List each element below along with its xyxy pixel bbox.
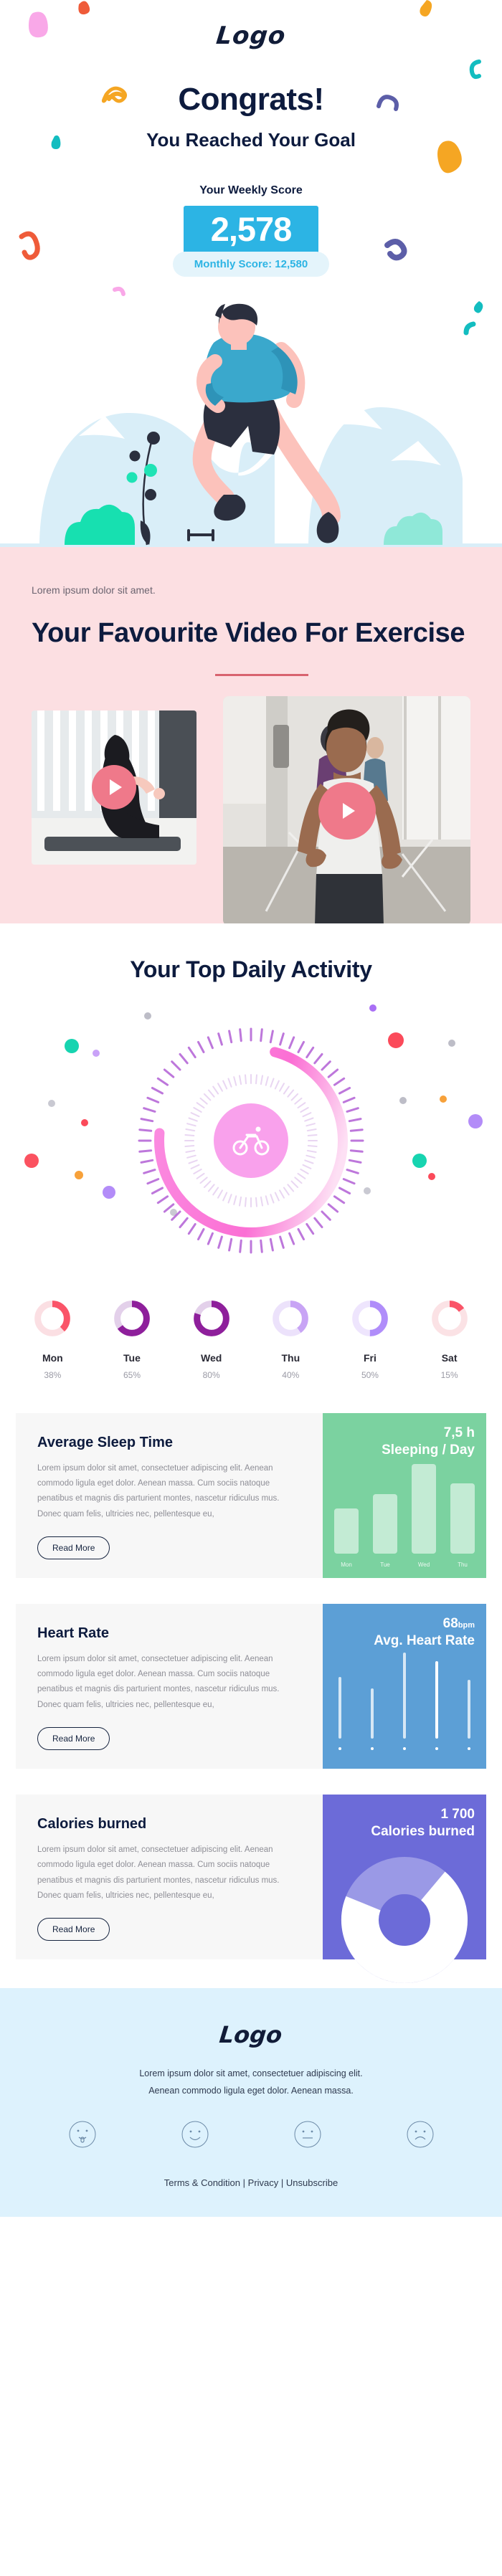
heart-stat-label: Avg. Heart Rate <box>334 1633 475 1649</box>
day-percent: 15% <box>415 1370 484 1380</box>
heart-rate-bar-chart: 68bpm Avg. Heart Rate <box>323 1604 486 1769</box>
footer-logo: Logo <box>218 2021 283 2048</box>
calories-donut-svg <box>340 1855 469 1985</box>
calories-stat-number: 1 700 <box>334 1807 475 1822</box>
sleep-bar-wed <box>412 1464 436 1554</box>
congrats-heading: Congrats! <box>0 82 502 118</box>
legal-separator-1: | <box>243 2177 245 2188</box>
video-divider <box>215 674 308 676</box>
card-text-panel: Average Sleep Time Lorem ipsum dolor sit… <box>16 1413 323 1578</box>
day-ring-item[interactable]: Tue 65% <box>98 1298 166 1380</box>
day-ring-item[interactable]: Fri 50% <box>336 1298 404 1380</box>
calories-stat-label: Calories burned <box>334 1824 475 1840</box>
day-percent: 80% <box>177 1370 246 1380</box>
day-ring-mon <box>32 1298 72 1339</box>
heart-bar-2 <box>371 1688 374 1739</box>
video-thumbnail-group <box>32 696 470 879</box>
hero-section: Logo Congrats! You Reached Your Goal You… <box>0 0 502 547</box>
goal-subheading: You Reached Your Goal <box>0 129 502 151</box>
day-ring-fri <box>350 1298 390 1339</box>
card-title: Calories burned <box>37 1816 301 1833</box>
heart-dot-5 <box>468 1747 470 1750</box>
footer-line-1: Lorem ipsum dolor sit amet, consectetuer… <box>0 2068 502 2078</box>
footer-line-2: Aenean commodo ligula eget dolor. Aenean… <box>0 2086 502 2096</box>
day-ring-item[interactable]: Wed 80% <box>177 1298 246 1380</box>
running-man-illustration <box>0 293 502 547</box>
neutral-face-icon[interactable] <box>293 2120 322 2149</box>
heart-dot-2 <box>371 1747 374 1750</box>
read-more-button-sleep[interactable]: Read More <box>37 1536 110 1559</box>
day-ring-sat <box>430 1298 470 1339</box>
heart-axis-dots <box>338 1747 470 1750</box>
day-ring-wed <box>191 1298 232 1339</box>
smile-face-icon[interactable] <box>181 2120 209 2149</box>
sleep-bars <box>334 1464 475 1554</box>
card-calories-burned: Calories burned Lorem ipsum dolor sit am… <box>16 1795 486 1959</box>
runner-svg <box>0 293 502 547</box>
card-body: Lorem ipsum dolor sit amet, consectetuer… <box>37 1652 301 1713</box>
video-section-title: Your Favourite Video For Exercise <box>32 617 470 650</box>
read-more-button-calories[interactable]: Read More <box>37 1918 110 1941</box>
weekly-day-rings: Mon 38% Tue 65% Wed 80% Thu 4 <box>0 1291 502 1380</box>
day-ring-item[interactable]: Mon 38% <box>18 1298 87 1380</box>
privacy-link[interactable]: Privacy <box>248 2177 279 2188</box>
sad-face-icon[interactable] <box>406 2120 435 2149</box>
activity-title: Your Top Daily Activity <box>0 956 502 983</box>
sleep-stat-number: 7,5 h <box>334 1426 475 1441</box>
day-label: Fri <box>336 1352 404 1364</box>
day-ring-item[interactable]: Thu 40% <box>256 1298 325 1380</box>
sleep-label-tue: Tue <box>373 1562 397 1568</box>
heart-bar-1 <box>338 1677 341 1739</box>
card-title: Heart Rate <box>37 1625 301 1642</box>
card-text-panel: Heart Rate Lorem ipsum dolor sit amet, c… <box>16 1604 323 1769</box>
card-average-sleep-time: Average Sleep Time Lorem ipsum dolor sit… <box>16 1413 486 1578</box>
day-label: Mon <box>18 1352 87 1364</box>
favourite-video-section: Lorem ipsum dolor sit amet. Your Favouri… <box>0 547 502 923</box>
feedback-face-group <box>0 2120 502 2149</box>
header-logo: Logo <box>0 22 502 50</box>
day-label: Thu <box>256 1352 325 1364</box>
daily-activity-progress-ring <box>0 990 502 1291</box>
card-title: Average Sleep Time <box>37 1435 301 1451</box>
confetti-svg <box>0 0 502 337</box>
sleep-bar-tue <box>373 1494 397 1554</box>
play-button-yoga[interactable] <box>92 765 136 809</box>
read-more-button-heart[interactable]: Read More <box>37 1727 110 1750</box>
day-percent: 38% <box>18 1370 87 1380</box>
day-percent: 40% <box>256 1370 325 1380</box>
day-label: Wed <box>177 1352 246 1364</box>
card-body: Lorem ipsum dolor sit amet, consectetuer… <box>37 1461 301 1522</box>
day-ring-item[interactable]: Sat 15% <box>415 1298 484 1380</box>
tongue-face-icon[interactable] <box>68 2120 97 2149</box>
activity-center-circle <box>214 1103 288 1178</box>
day-percent: 50% <box>336 1370 404 1380</box>
heart-bar-3 <box>403 1653 406 1739</box>
weekly-score-label: Your Weekly Score <box>0 184 502 197</box>
activity-ring-svg <box>0 990 502 1291</box>
sleep-label-mon: Mon <box>334 1562 359 1568</box>
sleep-bar-chart: 7,5 h Sleeping / Day Mon Tue Wed Thu <box>323 1413 486 1578</box>
heart-bars <box>338 1653 470 1739</box>
day-label: Sat <box>415 1352 484 1364</box>
footer-section: Logo Lorem ipsum dolor sit amet, consect… <box>0 1988 502 2217</box>
terms-link[interactable]: Terms & Condition <box>164 2177 240 2188</box>
calories-donut-wrap <box>340 1855 469 1988</box>
legal-separator-2: | <box>281 2177 283 2188</box>
video-kicker: Lorem ipsum dolor sit amet. <box>32 584 470 596</box>
heart-bpm-unit: bpm <box>458 1621 475 1630</box>
day-ring-thu <box>270 1298 311 1339</box>
day-percent: 65% <box>98 1370 166 1380</box>
sleep-bar-thu <box>450 1483 475 1554</box>
sleep-stat-label: Sleeping / Day <box>334 1443 475 1458</box>
heart-bar-4 <box>435 1661 438 1739</box>
sleep-bar-mon <box>334 1508 359 1554</box>
weekly-score-value: 2,578 <box>184 206 319 256</box>
card-heart-rate: Heart Rate Lorem ipsum dolor sit amet, c… <box>16 1604 486 1769</box>
play-triangle-icon <box>343 803 355 819</box>
day-label: Tue <box>98 1352 166 1364</box>
play-triangle-icon <box>110 779 122 795</box>
sleep-label-wed: Wed <box>412 1562 436 1568</box>
heart-dot-4 <box>435 1747 438 1750</box>
heart-bpm-value: 68 <box>443 1616 458 1631</box>
card-body: Lorem ipsum dolor sit amet, consectetuer… <box>37 1843 301 1904</box>
calories-donut-chart: 1 700 Calories burned <box>323 1795 486 1959</box>
sleep-label-thu: Thu <box>450 1562 475 1568</box>
video-thumbnail-yoga[interactable] <box>32 710 196 865</box>
weekly-score-block: Your Weekly Score 2,578 Monthly Score: 1… <box>0 184 502 277</box>
daily-activity-section: Your Top Daily Activity <box>0 923 502 1387</box>
sleep-bar-labels: Mon Tue Wed Thu <box>334 1562 475 1568</box>
footer-legal-links: Terms & Condition | Privacy | Unsubscrib… <box>0 2177 502 2188</box>
heart-stat-number: 68bpm <box>334 1617 475 1632</box>
play-button-gym[interactable] <box>318 782 376 840</box>
day-ring-tue <box>112 1298 152 1339</box>
card-text-panel: Calories burned Lorem ipsum dolor sit am… <box>16 1795 323 1959</box>
heart-dot-1 <box>338 1747 341 1750</box>
unsubscribe-link[interactable]: Unsubscribe <box>286 2177 338 2188</box>
heart-bar-5 <box>468 1680 470 1739</box>
heart-dot-3 <box>403 1747 406 1750</box>
monthly-score-badge: Monthly Score: 12,580 <box>173 252 329 277</box>
video-thumbnail-gym[interactable] <box>223 696 470 926</box>
